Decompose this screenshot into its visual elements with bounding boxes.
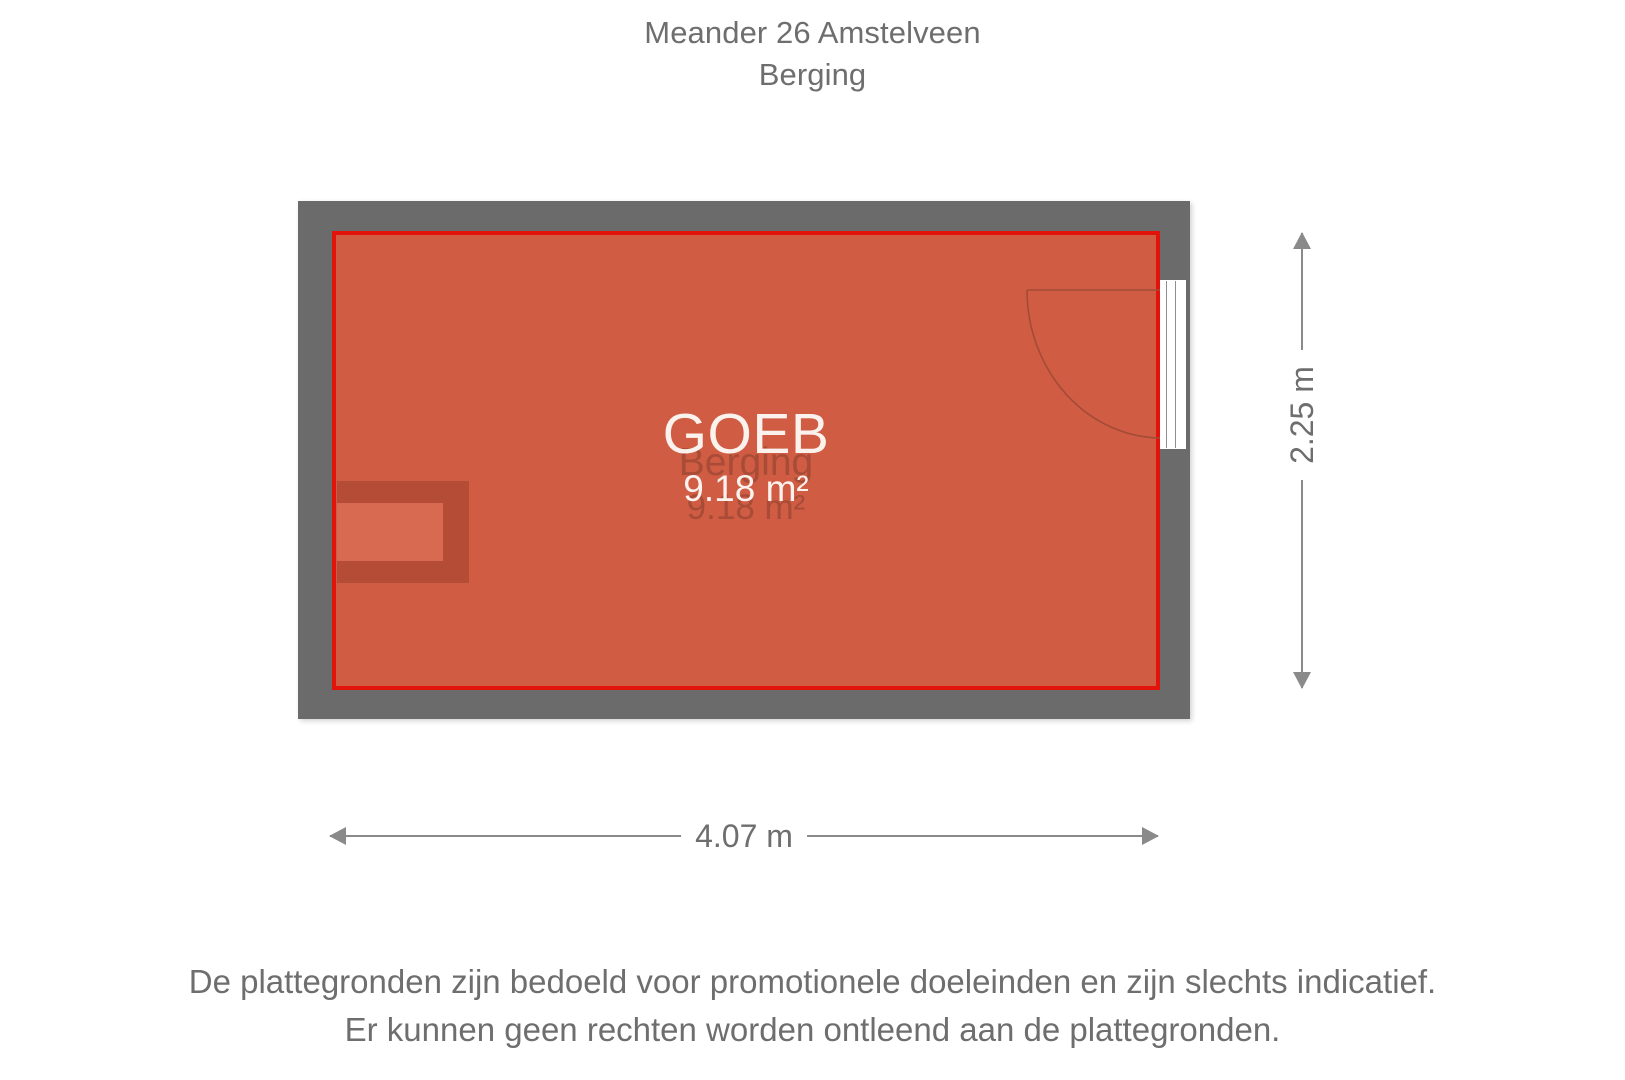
arrow-right-icon <box>1142 827 1159 845</box>
page-footer: De plattegronden zijn bedoeld voor promo… <box>0 958 1625 1054</box>
arrow-up-icon <box>1293 232 1311 249</box>
disclaimer-line-1: De plattegronden zijn bedoeld voor promo… <box>0 958 1625 1006</box>
wall-fixture-inner <box>337 503 443 561</box>
disclaimer-line-2: Er kunnen geen rechten worden ontleend a… <box>0 1006 1625 1054</box>
dimension-horizontal: 4.07 m <box>330 816 1158 856</box>
dimension-height-label: 2.25 m <box>1278 350 1326 480</box>
floorplan-canvas: Berging 9.18 m² GOEB 9.18 m² 2.25 m 4.07… <box>0 0 1625 1080</box>
door-swing-icon <box>1026 289 1164 439</box>
arrow-down-icon <box>1293 672 1311 689</box>
dimension-width-label: 4.07 m <box>681 814 807 858</box>
dimension-vertical: 2.25 m <box>1283 233 1321 688</box>
arrow-left-icon <box>329 827 346 845</box>
door-leaf-icon <box>1166 281 1176 448</box>
